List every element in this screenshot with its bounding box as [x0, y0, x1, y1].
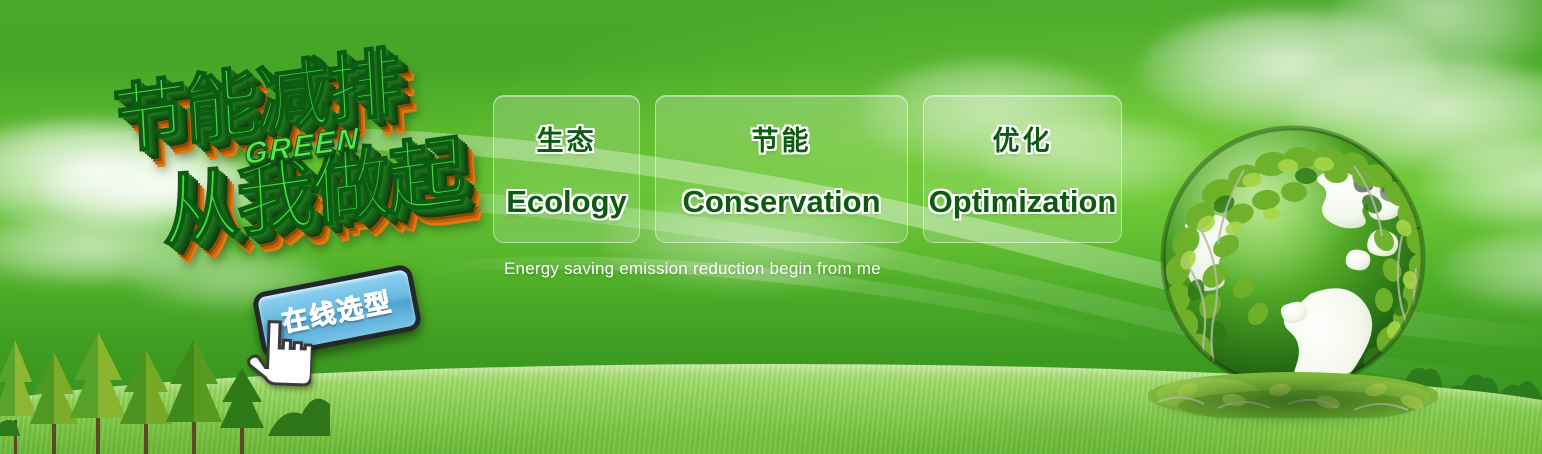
feature-card-group: 生态 Ecology 节能 Conservation 优化 Optimizati… — [493, 95, 1122, 243]
globe-ground-shadow — [1154, 378, 1432, 424]
feature-card-conservation[interactable]: 节能 Conservation — [655, 95, 908, 243]
cloud-icon — [1440, 230, 1542, 310]
feature-card-ecology[interactable]: 生态 Ecology — [493, 95, 640, 243]
feature-card-label-en: Conservation — [682, 184, 880, 220]
green-hero-banner: 节能减排 从我做起 GREEN 在线选型 生态 Ecology 节能 Conse… — [0, 0, 1542, 454]
leafy-globe-icon — [1148, 118, 1438, 418]
headline-3d-logo: 节能减排 从我做起 GREEN — [96, 34, 486, 264]
feature-card-label-en: Ecology — [506, 184, 627, 220]
feature-card-label-cn: 节能 — [752, 119, 812, 158]
feature-card-label-cn: 优化 — [993, 119, 1053, 158]
feature-card-label-en: Optimization — [929, 184, 1117, 220]
feature-card-label-cn: 生态 — [537, 119, 597, 158]
feature-card-optimization[interactable]: 优化 Optimization — [923, 95, 1122, 243]
banner-subtitle: Energy saving emission reduction begin f… — [504, 259, 881, 279]
